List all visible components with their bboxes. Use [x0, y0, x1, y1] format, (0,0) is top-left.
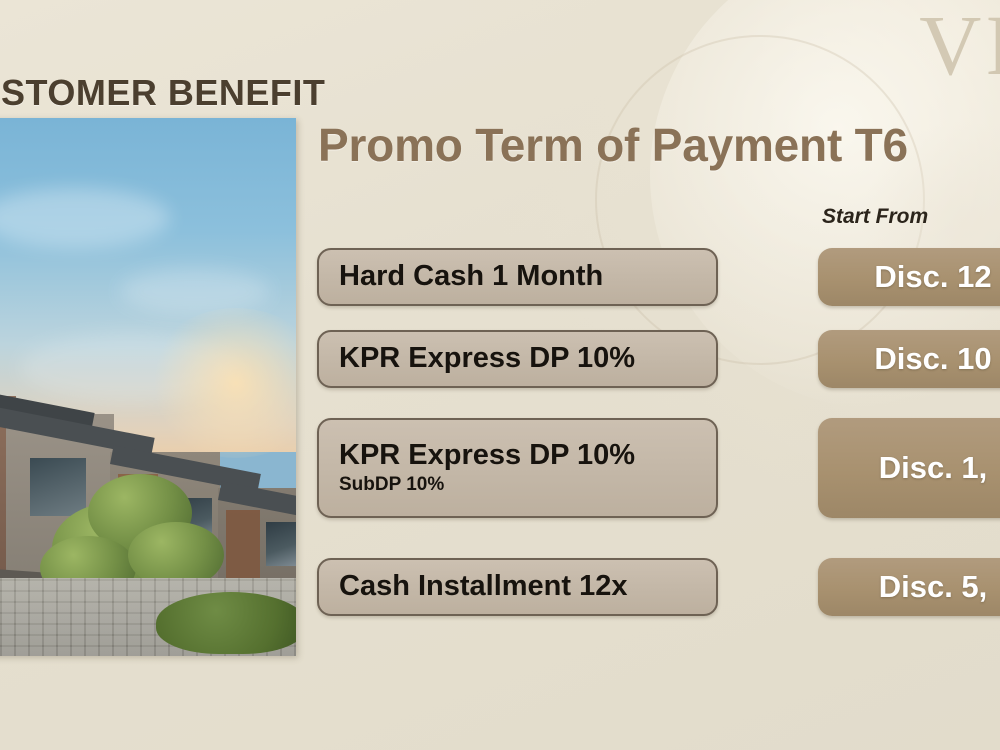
term-label: KPR Express DP 10% [339, 440, 696, 471]
discount-label: Disc. 10 [874, 341, 991, 377]
payment-terms-list: Hard Cash 1 Month Disc. 12 KPR Express D… [0, 0, 1000, 750]
discount-label: Disc. 1, [879, 450, 988, 486]
discount-label: Disc. 5, [879, 569, 988, 605]
term-pill[interactable]: KPR Express DP 10% [317, 330, 718, 388]
discount-label: Disc. 12 [874, 259, 991, 295]
discount-badge[interactable]: Disc. 10 [818, 330, 1000, 388]
discount-badge[interactable]: Disc. 12 [818, 248, 1000, 306]
term-sublabel: SubDP 10% [339, 474, 696, 496]
term-pill[interactable]: Cash Installment 12x [317, 558, 718, 616]
term-label: Cash Installment 12x [339, 571, 696, 602]
term-pill[interactable]: KPR Express DP 10% SubDP 10% [317, 418, 718, 518]
promo-slide: VI CUSTOMER BENEFIT [0, 0, 1000, 750]
discount-badge[interactable]: Disc. 5, [818, 558, 1000, 616]
term-pill[interactable]: Hard Cash 1 Month [317, 248, 718, 306]
term-label: Hard Cash 1 Month [339, 261, 696, 292]
discount-badge[interactable]: Disc. 1, [818, 418, 1000, 518]
term-label: KPR Express DP 10% [339, 343, 696, 374]
